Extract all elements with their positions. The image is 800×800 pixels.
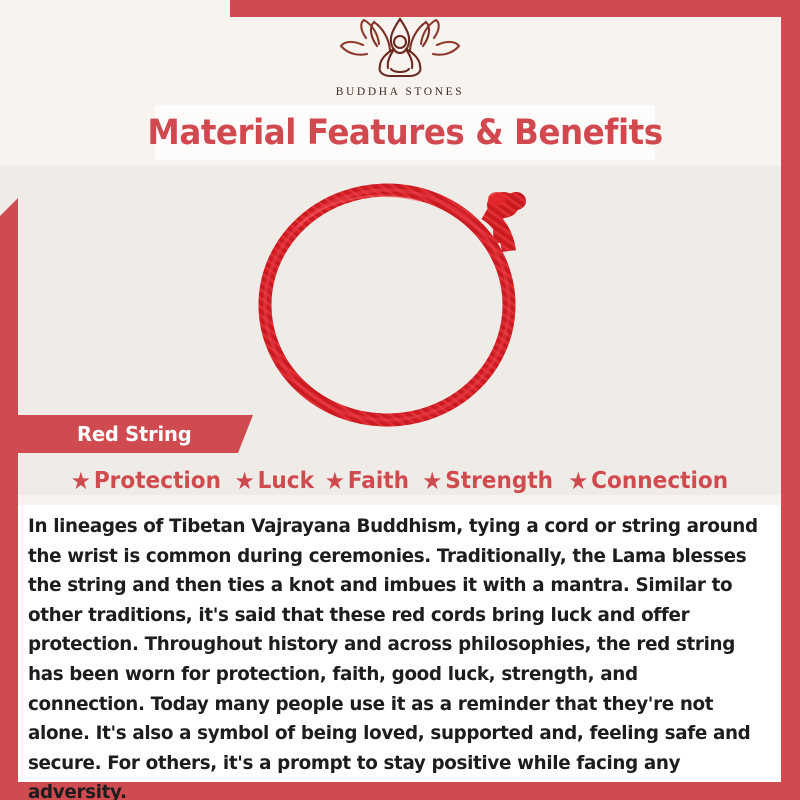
star-icon: ★ — [422, 469, 442, 493]
benefit-label: Luck — [257, 468, 313, 494]
description-text: In lineages of Tibetan Vajrayana Buddhis… — [28, 512, 758, 800]
product-photo — [18, 165, 781, 430]
title-banner: Material Features & Benefits — [155, 105, 655, 160]
product-label-ribbon: Red String — [18, 415, 253, 453]
benefit-item-luck: ★ Luck — [234, 468, 313, 494]
lotus-meditation-icon — [0, 16, 800, 83]
frame-band-top — [230, 0, 800, 17]
benefit-label: Protection — [94, 468, 221, 494]
brand-name: BUDDHA STONES — [0, 86, 800, 98]
benefit-item-faith: ★ Faith — [325, 468, 409, 494]
benefits-row: ★ Protection ★ Luck ★ Faith ★ Strength ★… — [18, 463, 781, 498]
frame-band-left — [0, 198, 18, 782]
star-icon: ★ — [71, 469, 91, 493]
benefit-label: Faith — [348, 468, 409, 494]
benefit-item-protection: ★ Protection — [71, 468, 221, 494]
benefit-item-strength: ★ Strength — [422, 468, 553, 494]
page-title: Material Features & Benefits — [147, 113, 662, 153]
brand-logo: BUDDHA STONES — [0, 16, 800, 98]
frame-band-right — [781, 0, 800, 800]
star-icon: ★ — [568, 469, 588, 493]
description-panel: In lineages of Tibetan Vajrayana Buddhis… — [18, 505, 781, 782]
star-icon: ★ — [325, 469, 345, 493]
star-icon: ★ — [234, 469, 254, 493]
product-label-text: Red String — [77, 422, 191, 446]
infographic-poster: BUDDHA STONES Material Features & Benefi… — [0, 0, 800, 800]
benefit-label: Connection — [591, 468, 728, 494]
benefit-label: Strength — [445, 468, 553, 494]
benefit-item-connection: ★ Connection — [568, 468, 728, 494]
